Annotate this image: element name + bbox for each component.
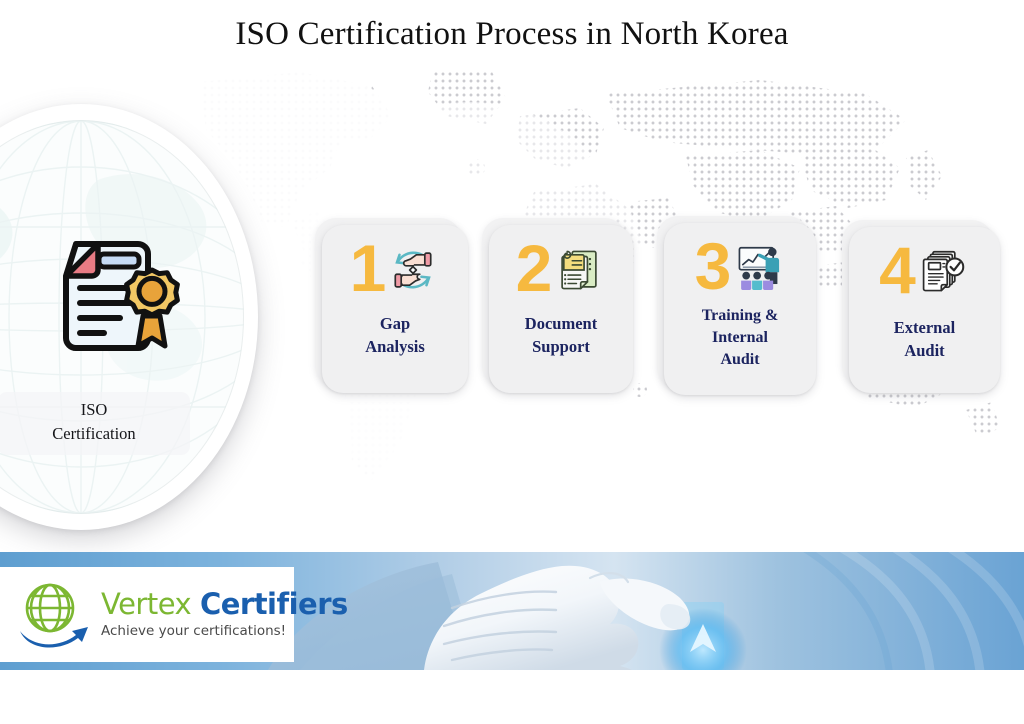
globe-arrow-logo-icon (14, 579, 92, 651)
step-number-2: 2 (516, 235, 551, 301)
brand-wordmark: Vertex Certifiers (101, 590, 348, 620)
step-card-external-audit[interactable]: 4 (849, 227, 1000, 393)
step-3-label-line3: Audit (668, 349, 812, 371)
step-number-4: 4 (879, 237, 914, 303)
step-2-label: Document Support (493, 313, 629, 359)
step-2-label-line1: Document (493, 313, 629, 336)
step-4-label-line2: Audit (853, 340, 996, 363)
step-card-document-support[interactable]: 2 (489, 225, 633, 393)
step-3-head: 3 (664, 231, 816, 305)
iso-certification-badge: ISO Certification (0, 104, 264, 534)
step-4-label-line1: External (853, 317, 996, 340)
audit-documents-check-icon (916, 245, 970, 299)
step-3-label: Training & Internal Audit (668, 305, 812, 371)
certificate-document-icon (46, 220, 196, 370)
brand-logo[interactable]: Vertex Certifiers Achieve your certifica… (0, 567, 294, 662)
step-card-training-internal-audit[interactable]: 3 (664, 223, 816, 395)
step-1-label-line2: Analysis (326, 336, 464, 359)
iso-certification-label: ISO Certification (0, 392, 190, 455)
page-title: ISO Certification Process in North Korea (0, 16, 1024, 53)
infographic-canvas: ISO Certification Process in North Korea (0, 0, 1024, 724)
brand-part-vertex: Vertex (101, 587, 191, 621)
step-card-gap-analysis[interactable]: 1 Gap Analysis (322, 225, 468, 393)
handshake-partnership-icon (386, 243, 440, 297)
step-3-label-line2: Internal (668, 327, 812, 349)
step-4-head: 4 (849, 235, 1000, 309)
step-1-head: 1 (322, 233, 468, 307)
step-2-label-line2: Support (493, 336, 629, 359)
step-number-3: 3 (695, 233, 730, 299)
step-4-label: External Audit (853, 317, 996, 363)
step-number-1: 1 (350, 235, 385, 301)
brand-text: Vertex Certifiers Achieve your certifica… (101, 590, 348, 639)
documents-stack-icon (552, 243, 606, 297)
step-3-label-line1: Training & (668, 305, 812, 327)
iso-label-line1: ISO (8, 398, 180, 422)
badge-inner-circle: ISO Certification (0, 120, 244, 514)
step-2-head: 2 (489, 233, 633, 307)
brand-tagline: Achieve your certifications! (101, 623, 348, 639)
training-presentation-icon (731, 241, 785, 295)
iso-label-line2: Certification (8, 422, 180, 446)
step-1-label-line1: Gap (326, 313, 464, 336)
brand-part-certifiers: Certifiers (200, 587, 348, 621)
step-1-label: Gap Analysis (326, 313, 464, 359)
